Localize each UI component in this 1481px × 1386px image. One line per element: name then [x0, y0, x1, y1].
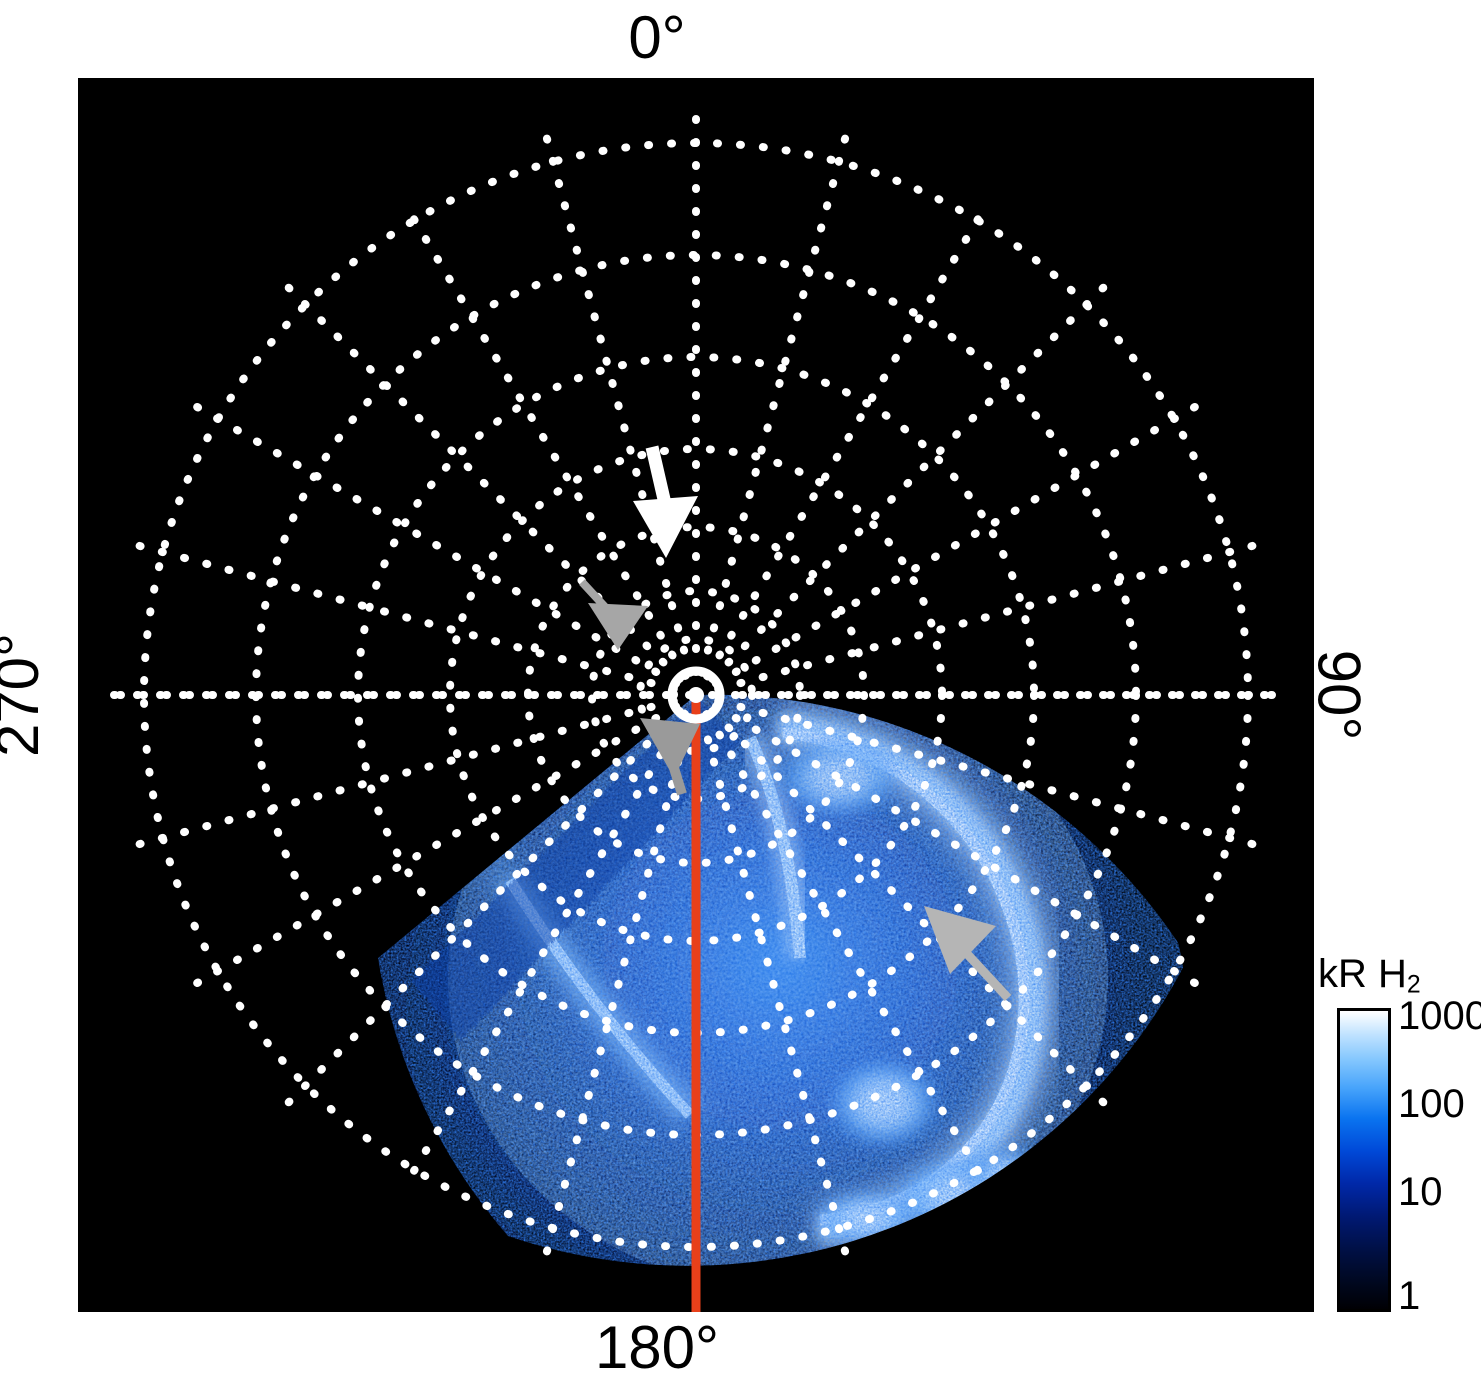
azimuth-label-90: 90°: [1308, 650, 1368, 741]
colorbar-title: kR H2: [1318, 952, 1421, 999]
colorbar-tick-1: 1: [1398, 1274, 1420, 1319]
polar-auroral-figure: 0° 180° 270° 90°: [0, 0, 1481, 1386]
polar-plot-area: [78, 78, 1314, 1312]
auroral-emission-data: [288, 608, 1188, 1312]
colorbar-tick-100: 100: [1398, 1082, 1465, 1127]
grid-spoke-300: [192, 404, 696, 695]
grid-spoke-75: [696, 544, 1258, 695]
azimuth-label-270: 270°: [0, 633, 48, 757]
grid-spoke-315: [285, 284, 697, 696]
white-arrow-upper: [633, 447, 698, 558]
azimuth-label-180: 180°: [0, 1318, 1314, 1378]
azimuth-label-0: 0°: [0, 8, 1314, 68]
grid-spoke-45: [696, 284, 1108, 696]
grid-spoke-60: [696, 404, 1200, 695]
colorbar-gradient: [1337, 1008, 1391, 1312]
polar-plot-svg: [78, 78, 1314, 1312]
colorbar-tick-10: 10: [1398, 1170, 1443, 1215]
colorbar-tick-1000: 1000: [1398, 994, 1481, 1039]
colorbar-title-text: kR H: [1318, 952, 1407, 996]
